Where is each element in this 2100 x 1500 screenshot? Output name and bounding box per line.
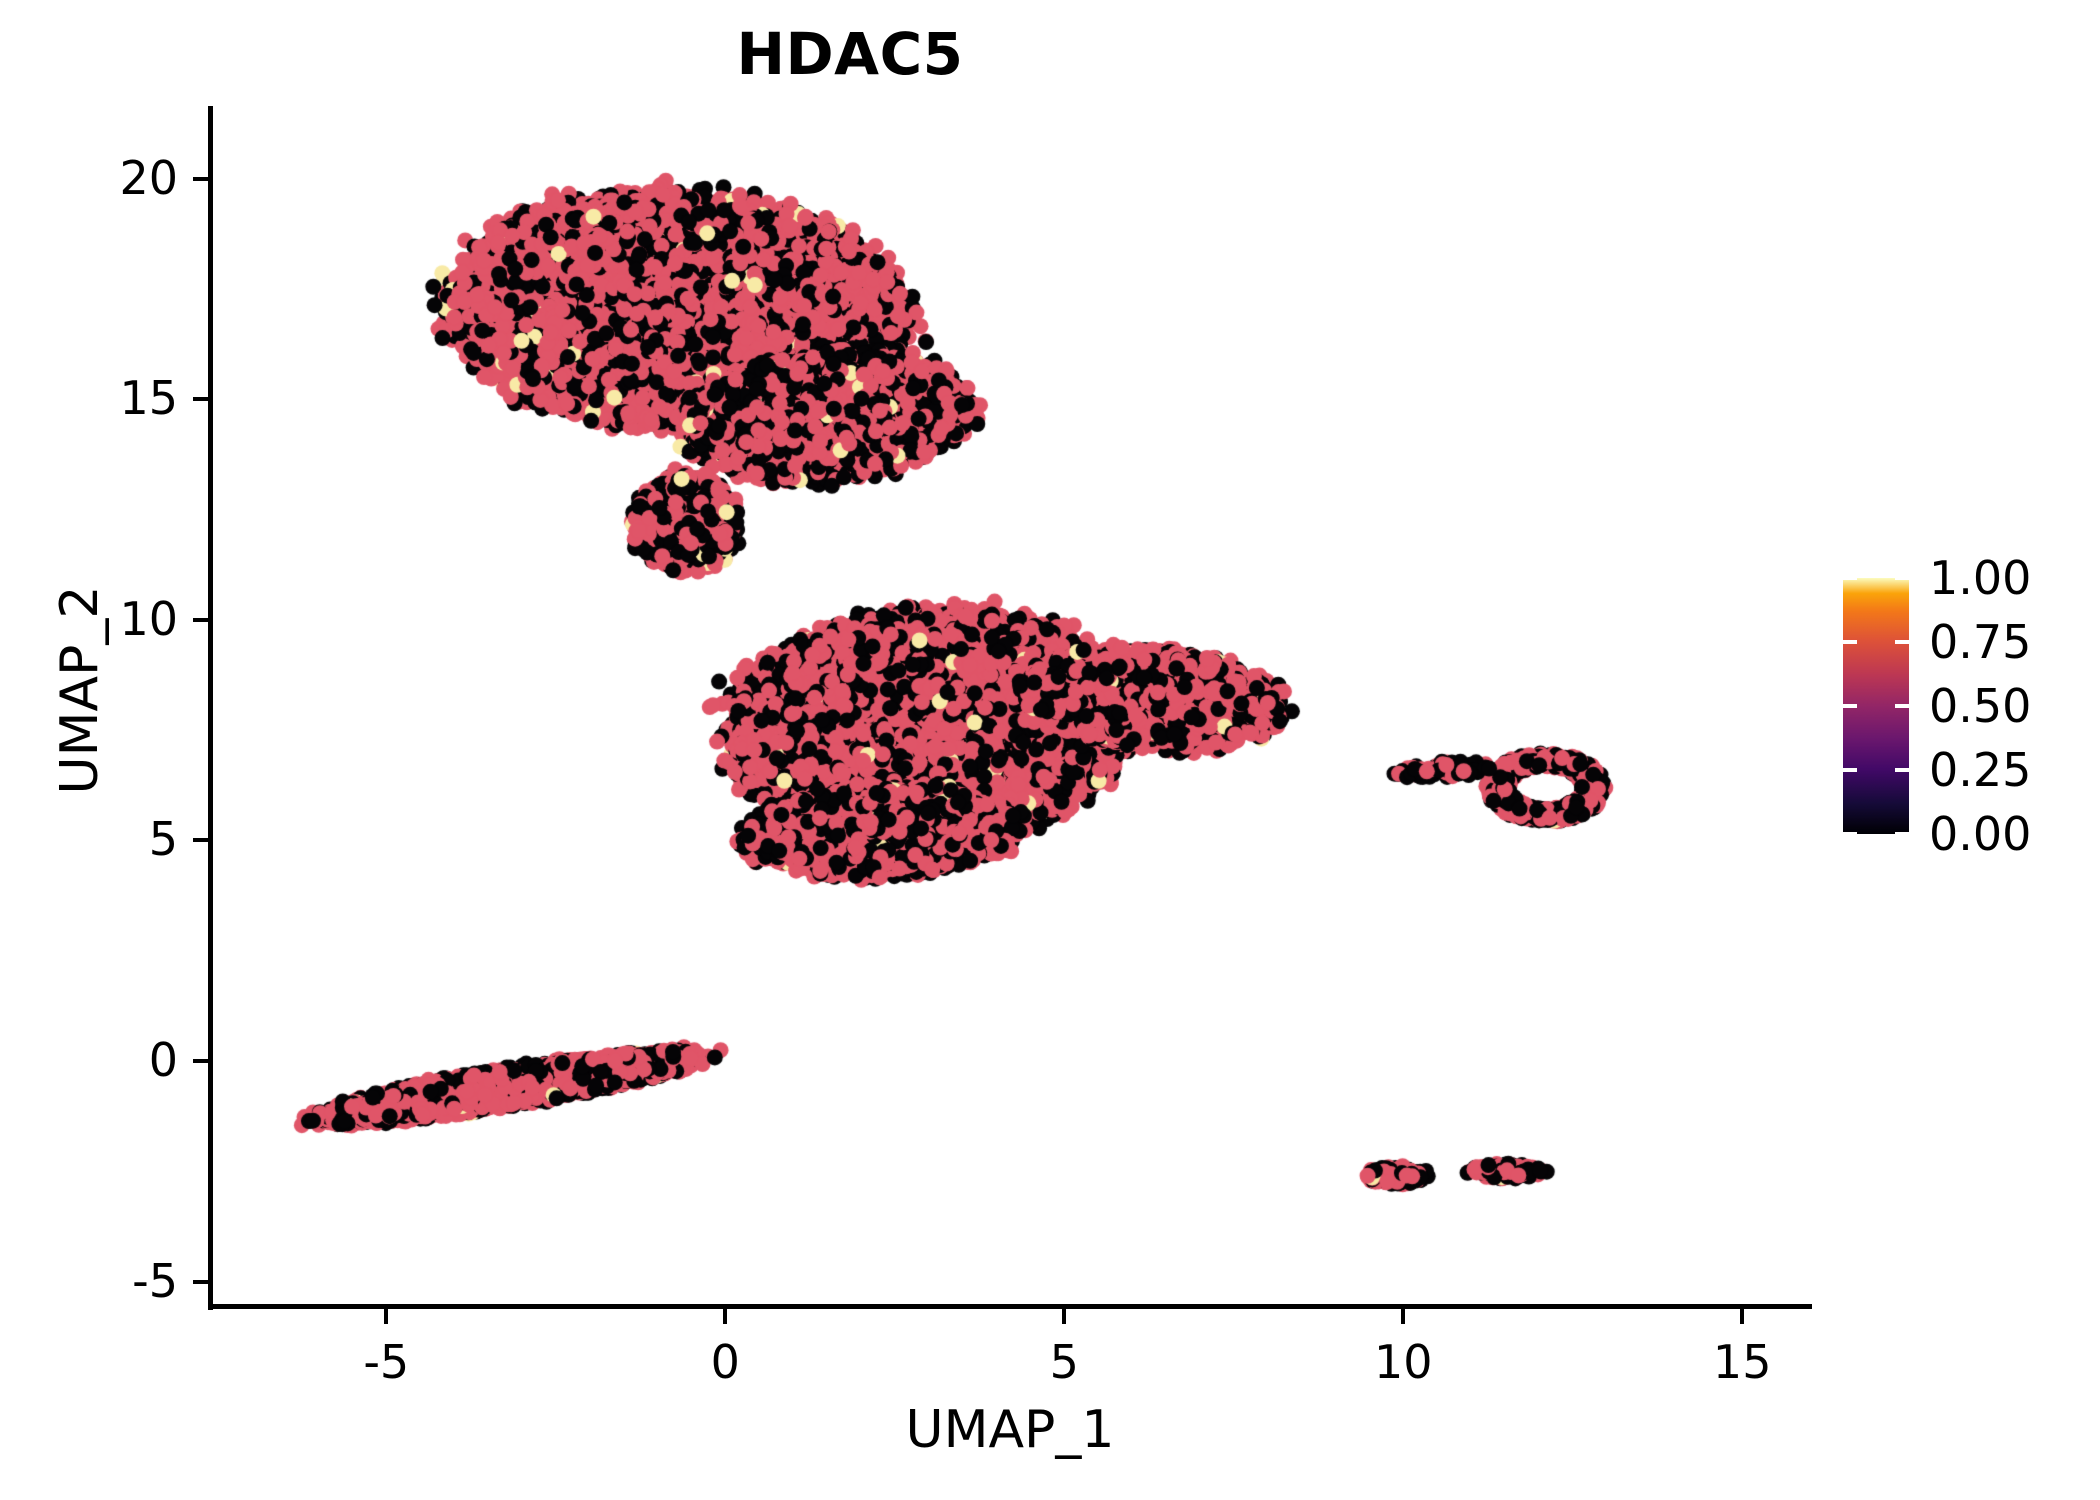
y-tick-mark: [193, 838, 208, 842]
scatter-canvas: [210, 108, 1810, 1308]
x-tick-mark: [1401, 1309, 1405, 1324]
y-tick-label: -5: [0, 1258, 178, 1304]
y-tick-mark: [193, 177, 208, 181]
colorbar-tick-label: 0.50: [1929, 683, 2099, 729]
umap-feature-plot-figure: HDAC5 -505101520 -5051015 UMAP_1 UMAP_2 …: [0, 0, 2100, 1500]
colorbar-tick-label: 0.00: [1929, 811, 2099, 857]
x-tick-label: -5: [306, 1335, 466, 1389]
colorbar: 0.000.250.500.751.00: [1843, 578, 2093, 838]
x-axis-label: UMAP_1: [210, 1400, 1810, 1460]
y-axis-label: UMAP_2: [50, 290, 110, 1090]
colorbar-tick-mark: [1895, 704, 1909, 708]
x-axis-spine: [208, 1304, 1812, 1309]
colorbar-tick-mark: [1843, 832, 1857, 836]
x-tick-mark: [384, 1309, 388, 1324]
y-axis-spine: [208, 106, 213, 1310]
colorbar-tick-label: 0.75: [1929, 619, 2099, 665]
page-title: HDAC5: [0, 20, 1700, 88]
colorbar-tick-mark: [1843, 704, 1857, 708]
colorbar-tick-mark: [1843, 768, 1857, 772]
colorbar-tick-label: 0.25: [1929, 747, 2099, 793]
plot-area: [210, 108, 1810, 1308]
x-tick-label: 0: [645, 1335, 805, 1389]
y-tick-label-text: 20: [58, 155, 178, 201]
x-tick-label-text: -5: [306, 1335, 466, 1389]
x-tick-label: 15: [1662, 1335, 1822, 1389]
x-tick-label: 10: [1323, 1335, 1483, 1389]
x-tick-label-text: 10: [1323, 1335, 1483, 1389]
colorbar-tick-mark: [1843, 640, 1857, 644]
x-tick-label-text: 0: [645, 1335, 805, 1389]
x-tick-mark: [1740, 1309, 1744, 1324]
x-tick-label: 5: [984, 1335, 1144, 1389]
x-tick-mark: [723, 1309, 727, 1324]
colorbar-tick-mark: [1895, 640, 1909, 644]
y-tick-label-text: -5: [58, 1258, 178, 1304]
y-tick-mark: [193, 397, 208, 401]
x-tick-label-text: 15: [1662, 1335, 1822, 1389]
y-tick-mark: [193, 1059, 208, 1063]
y-tick-label: 20: [0, 155, 178, 201]
colorbar-tick-label: 1.00: [1929, 555, 2099, 601]
y-tick-mark: [193, 618, 208, 622]
colorbar-tick-mark: [1843, 576, 1857, 580]
x-tick-mark: [1062, 1309, 1066, 1324]
x-tick-label-text: 5: [984, 1335, 1144, 1389]
colorbar-tick-mark: [1895, 768, 1909, 772]
y-tick-mark: [193, 1280, 208, 1284]
colorbar-tick-mark: [1895, 832, 1909, 836]
colorbar-tick-mark: [1895, 576, 1909, 580]
